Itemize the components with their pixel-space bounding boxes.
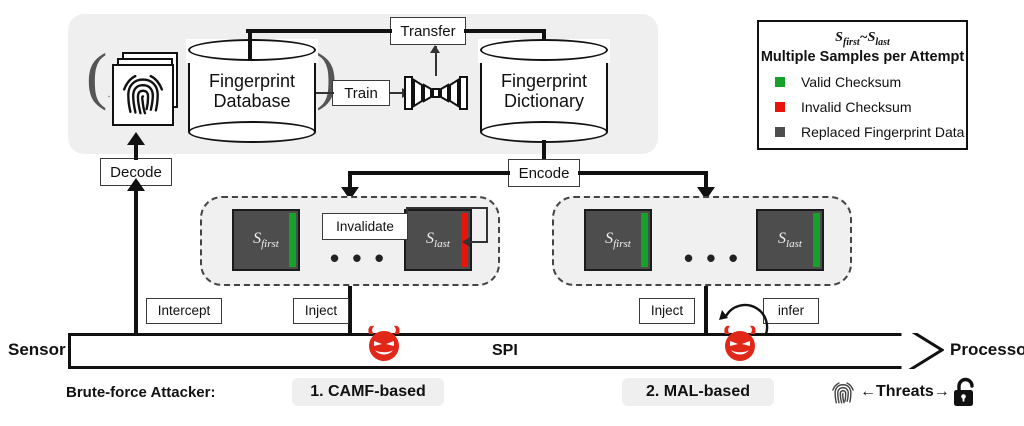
- invalidate-path-in: [468, 241, 488, 243]
- devil-attacker-icon: [362, 322, 406, 366]
- mal-sample-last: Slast: [756, 209, 824, 271]
- encode-box[interactable]: Encode: [508, 159, 580, 187]
- inject-box-camf[interactable]: Inject: [293, 298, 349, 324]
- camf-ellipsis: • • •: [330, 245, 387, 271]
- bracket-open: (: [86, 44, 107, 108]
- mal-first-label: Sfirst: [605, 230, 631, 250]
- legend-title-math: Sfirst~Slast: [759, 30, 966, 48]
- legend-label-replaced: Replaced Fingerprint Data: [801, 124, 964, 140]
- legend-label-invalid: Invalid Checksum: [801, 99, 912, 115]
- attacker-label: Brute-force Attacker:: [66, 384, 215, 401]
- dictionary-line1: Fingerprint: [501, 71, 587, 91]
- mal-first-checksum-strip: [641, 213, 648, 266]
- camf-first-label: Sfirst: [253, 230, 279, 250]
- invalidate-path-down: [486, 207, 488, 243]
- database-line1: Fingerprint: [209, 71, 295, 91]
- legend-swatch-replaced: [775, 127, 785, 137]
- legend-swatch-valid: [775, 77, 785, 87]
- train-box[interactable]: Train: [332, 80, 390, 106]
- camf-sample-first: Sfirst: [232, 209, 300, 271]
- encode-bus-left: [348, 171, 510, 175]
- unlocked-padlock-icon: [950, 377, 980, 409]
- legend-item-valid: Valid Checksum: [759, 74, 966, 90]
- dict-to-encode-line: [542, 140, 546, 160]
- mal-last-label: Slast: [778, 230, 802, 250]
- decode-to-stack-arrow: [127, 132, 145, 145]
- mal-sample-first: Sfirst: [584, 209, 652, 271]
- threats-label: ←Threats→: [860, 383, 950, 401]
- dictionary-line2: Dictionary: [504, 91, 584, 111]
- legend-item-invalid: Invalid Checksum: [759, 99, 966, 115]
- train-to-ae-line: [389, 92, 403, 94]
- ae-to-transfer-arrow: [430, 45, 440, 53]
- fingerprint-database: Fingerprint Database: [188, 39, 316, 143]
- devil-attacker-icon: [718, 322, 762, 366]
- camf-first-checksum-strip: [289, 213, 296, 266]
- invalidate-path-top: [406, 207, 488, 209]
- figure-canvas: ( ) . . . +: [0, 0, 1024, 426]
- bus-to-decode-line: [134, 186, 138, 338]
- transfer-box[interactable]: Transfer: [390, 17, 466, 45]
- bus-to-decode-arrow: [127, 178, 145, 191]
- legend-swatch-invalid: [775, 102, 785, 112]
- attack-chip-camf: 1. CAMF-based: [292, 378, 444, 406]
- mal-ellipsis: • • •: [684, 245, 741, 271]
- autoencoder-icon: [404, 74, 468, 112]
- attack-chip-mal: 2. MAL-based: [622, 378, 774, 406]
- db-to-transfer-line: [246, 29, 392, 33]
- fingerprint-dictionary: Fingerprint Dictionary: [480, 39, 608, 143]
- legend-label-valid: Valid Checksum: [801, 74, 901, 90]
- inject-box-mal[interactable]: Inject: [639, 298, 695, 324]
- legend-box: Sfirst~Slast Multiple Samples per Attemp…: [757, 20, 968, 150]
- intercept-box[interactable]: Intercept: [146, 298, 222, 324]
- encode-bus-right: [578, 171, 708, 175]
- legend-item-replaced: Replaced Fingerprint Data: [759, 124, 966, 140]
- sensor-label: Sensor: [8, 340, 66, 360]
- invalidate-arrowhead: [462, 237, 470, 247]
- fingerprint-icon: [828, 378, 858, 408]
- invalidate-box[interactable]: Invalidate: [322, 213, 408, 240]
- fingerprint-stack-icon: [112, 52, 192, 132]
- transfer-to-dict-line: [464, 29, 546, 33]
- database-line2: Database: [213, 91, 290, 111]
- db-to-train-line: [316, 92, 334, 94]
- processor-label: Processor: [950, 340, 1024, 360]
- spi-bus-label: SPI: [492, 342, 518, 360]
- legend-subtitle: Multiple Samples per Attempt: [759, 49, 966, 65]
- camf-last-label: Slast: [426, 230, 450, 250]
- mal-last-checksum-strip: [813, 213, 820, 266]
